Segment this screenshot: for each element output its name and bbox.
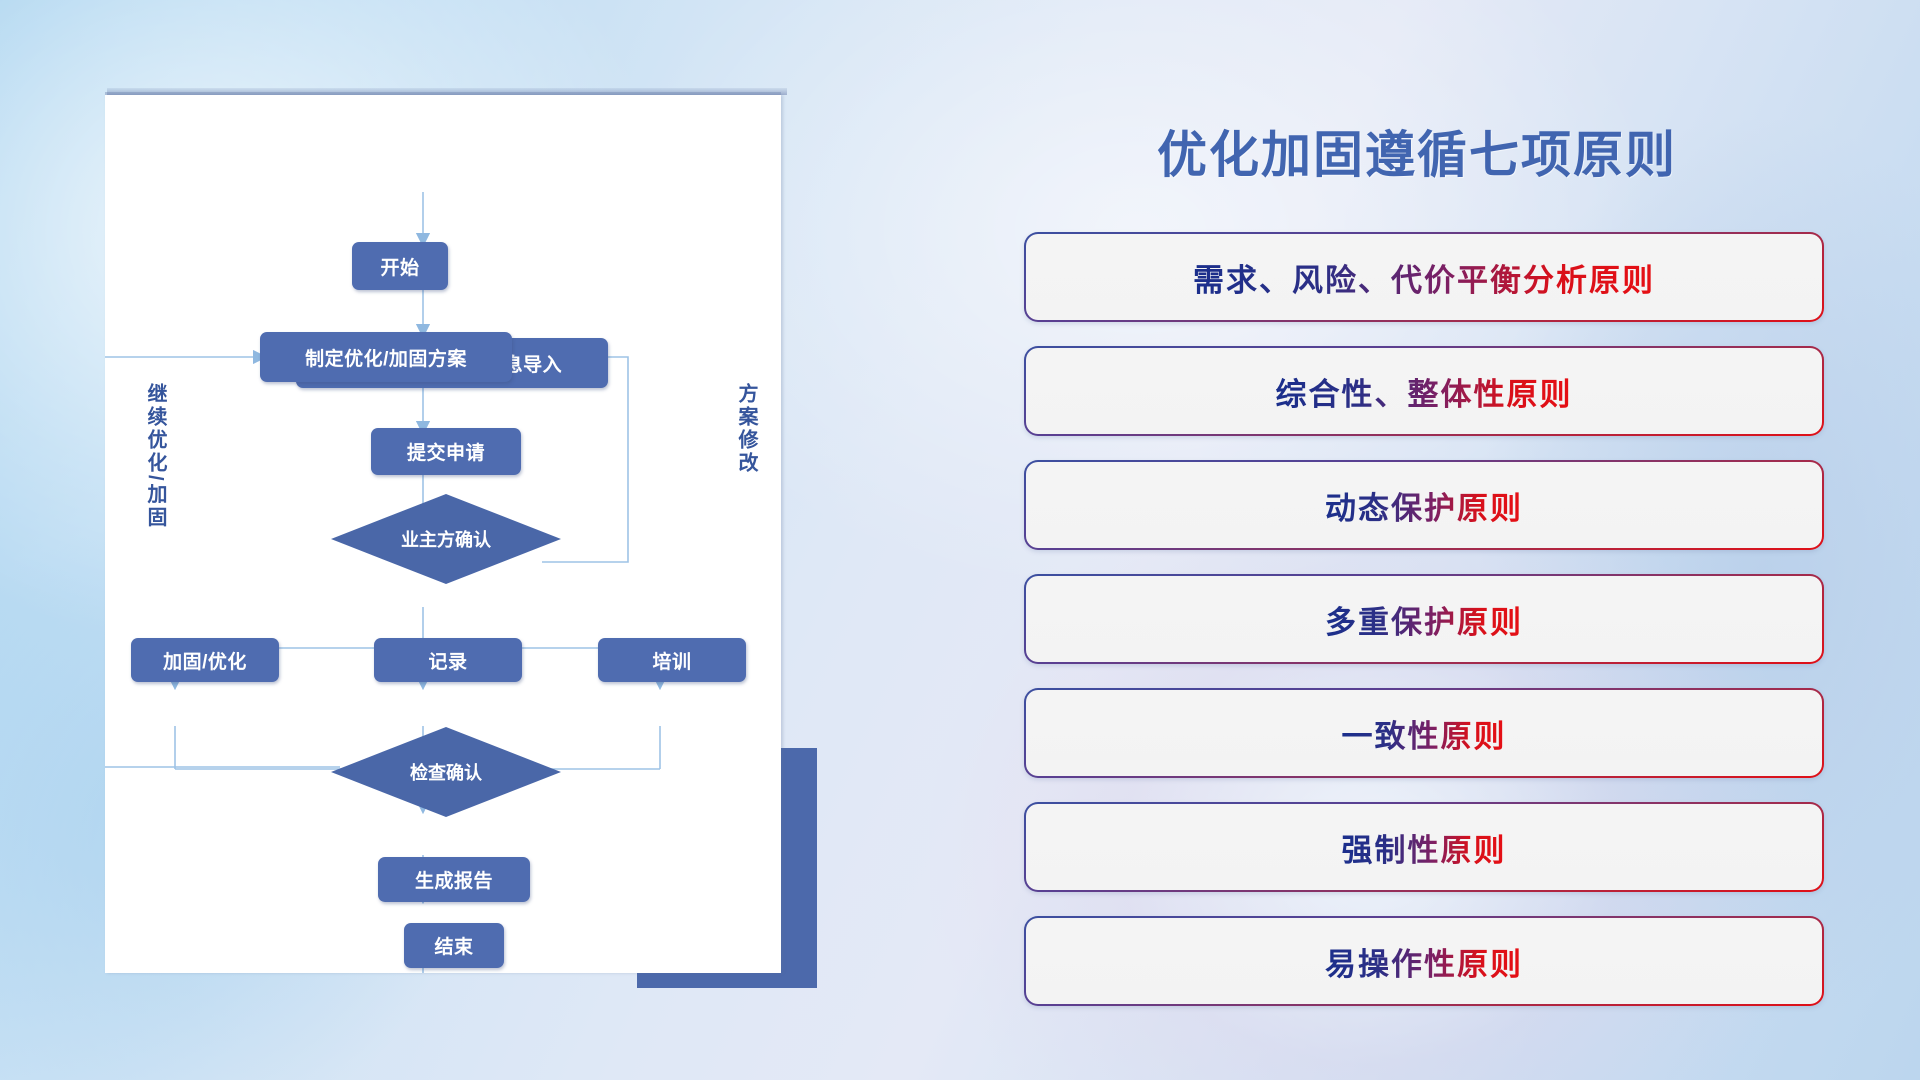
principle-label: 易操作性原则: [1325, 939, 1523, 984]
page-title: 优化加固遵循七项原则: [1157, 115, 1677, 187]
flow-node-start[interactable]: 开始: [352, 242, 448, 290]
flow-label-continue-optimize: 继续优化/加固: [144, 383, 165, 530]
flow-node-label: 业主方确认: [331, 494, 561, 584]
flow-label-plan-revision: 方案修改: [735, 383, 756, 475]
flow-node-generate-report[interactable]: 生成报告: [378, 857, 530, 902]
flow-node-label: 生成报告: [415, 866, 493, 893]
flow-node-label: 制定优化/加固方案: [305, 344, 467, 371]
flow-node-label: 结束: [434, 932, 473, 959]
flow-decision-owner-confirm[interactable]: 业主方确认: [331, 494, 561, 584]
flow-node-label: 记录: [428, 647, 467, 674]
principle-label: 综合性、整体性原则: [1276, 369, 1573, 414]
flow-node-label: 开始: [380, 253, 419, 280]
principle-item[interactable]: 综合性、整体性原则: [1024, 346, 1824, 436]
card-top-edge: [107, 88, 787, 95]
principle-label: 动态保护原则: [1325, 483, 1523, 528]
principle-label: 一致性原则: [1342, 711, 1507, 756]
principle-label: 需求、风险、代价平衡分析原则: [1193, 255, 1655, 300]
flow-node-label: 培训: [652, 647, 691, 674]
principles-list: 需求、风险、代价平衡分析原则 综合性、整体性原则 动态保护原则 多重保护原则 一…: [1024, 232, 1824, 1030]
flow-node-label: 提交申请: [407, 438, 485, 465]
principle-item[interactable]: 多重保护原则: [1024, 574, 1824, 664]
slide-canvas: 开始 风险评估/第三方信息导入 制定优化/加固方案 提交申请 业主方确认 加固/…: [0, 0, 1920, 1080]
principle-item[interactable]: 动态保护原则: [1024, 460, 1824, 550]
principle-item[interactable]: 强制性原则: [1024, 802, 1824, 892]
flow-decision-inspection-confirm[interactable]: 检查确认: [331, 727, 561, 817]
flow-node-end[interactable]: 结束: [404, 923, 504, 968]
flow-node-record[interactable]: 记录: [374, 638, 522, 682]
flow-node-submit-application[interactable]: 提交申请: [371, 428, 521, 475]
flow-node-plan[interactable]: 制定优化/加固方案: [260, 332, 512, 382]
flow-node-reinforce[interactable]: 加固/优化: [131, 638, 279, 682]
principle-item[interactable]: 易操作性原则: [1024, 916, 1824, 1006]
flow-node-label: 检查确认: [331, 727, 561, 817]
principle-label: 强制性原则: [1342, 825, 1507, 870]
principle-label: 多重保护原则: [1325, 597, 1523, 642]
flow-node-training[interactable]: 培训: [598, 638, 746, 682]
flow-node-label: 加固/优化: [163, 647, 247, 674]
principle-item[interactable]: 一致性原则: [1024, 688, 1824, 778]
principle-item[interactable]: 需求、风险、代价平衡分析原则: [1024, 232, 1824, 322]
